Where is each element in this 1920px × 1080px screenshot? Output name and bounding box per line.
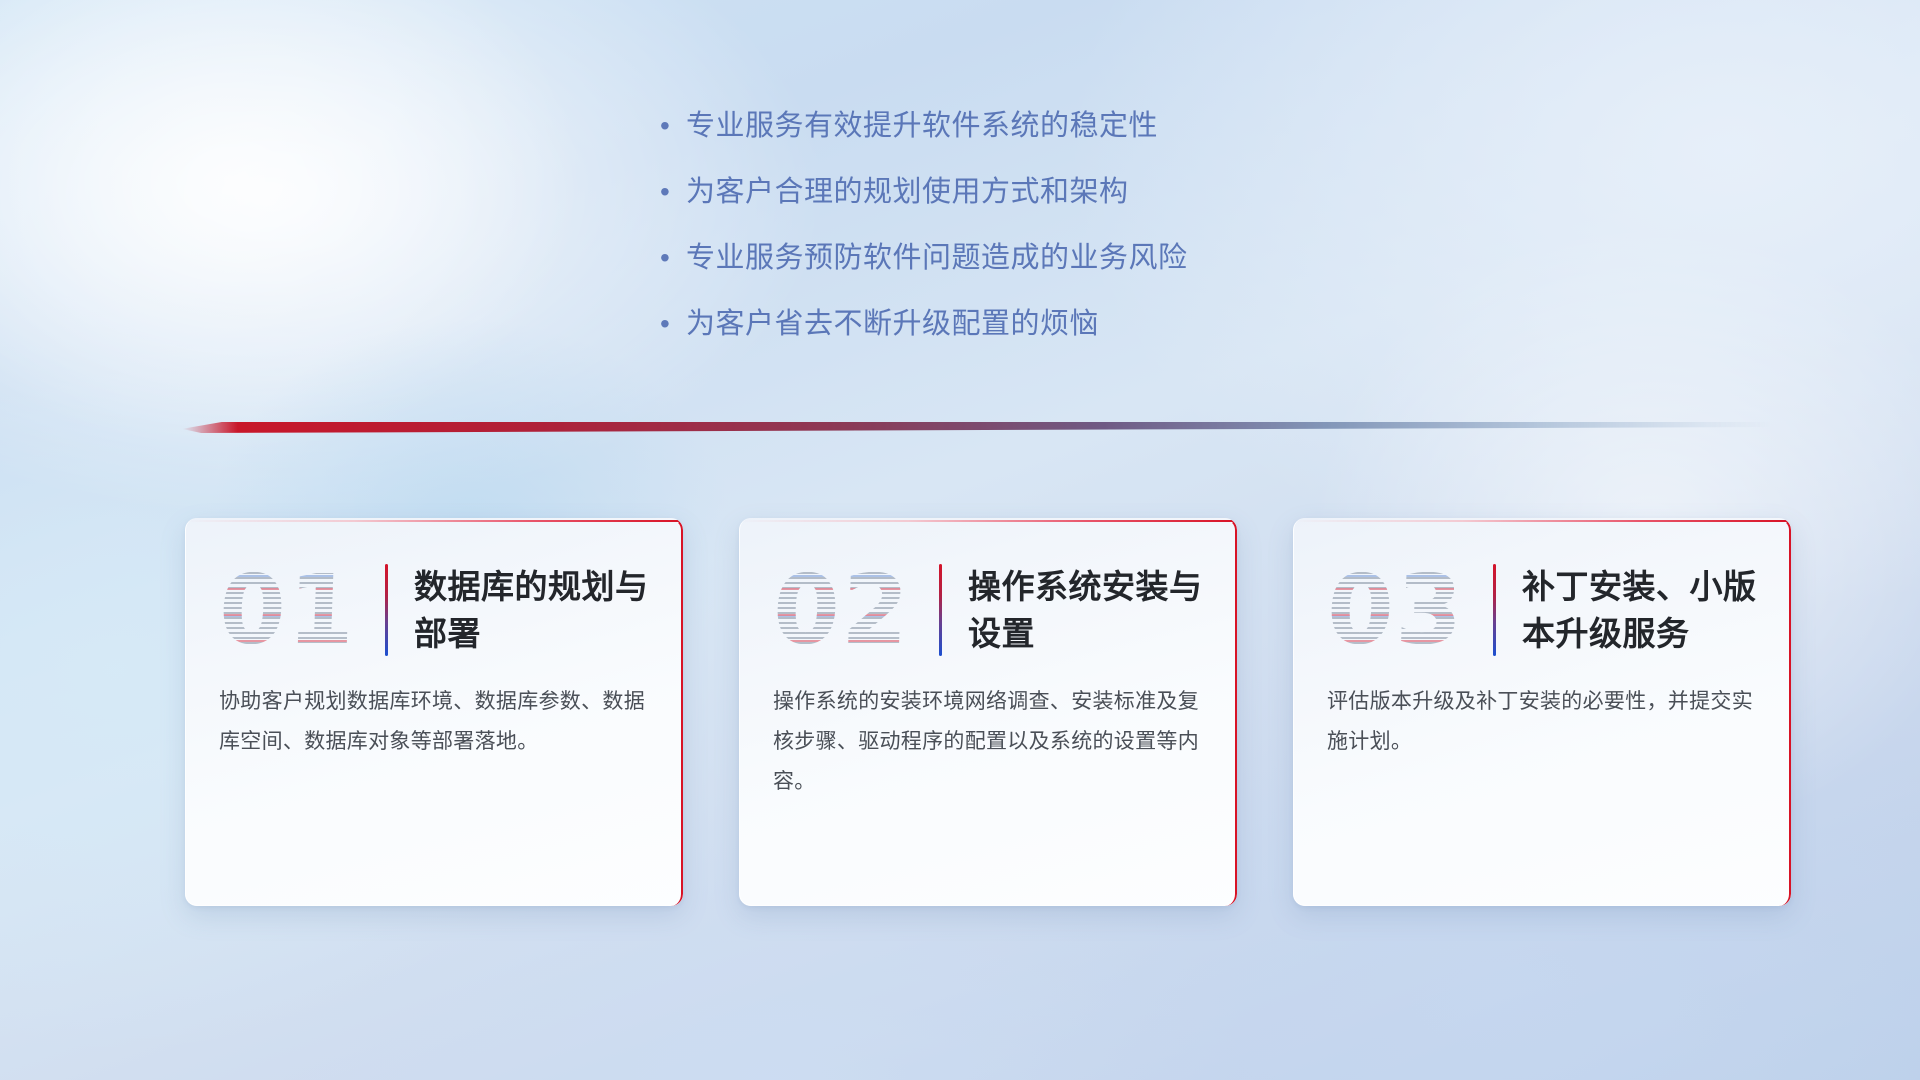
slide-canvas: • 专业服务有效提升软件系统的稳定性 • 为客户合理的规划使用方式和架构 • 专…: [0, 0, 1920, 1080]
service-card[interactable]: 0303 补丁安装、小版本升级服务 评估版本升级及补丁安装的必要性，并提交实施计…: [1293, 518, 1791, 906]
card-header: 0101 数据库的规划与部署: [185, 518, 683, 668]
bullet-text: 专业服务有效提升软件系统的稳定性: [686, 105, 1158, 147]
card-number-tint: 01: [217, 562, 358, 658]
card-header: 0303 补丁安装、小版本升级服务: [1293, 518, 1791, 668]
card-description: 协助客户规划数据库环境、数据库参数、数据库空间、数据库对象等部署落地。: [185, 668, 683, 762]
section-accent-divider: [182, 422, 1770, 433]
bullet-dot-icon: •: [660, 303, 686, 345]
card-divider-bar: [1493, 564, 1496, 656]
card-description: 评估版本升级及补丁安装的必要性，并提交实施计划。: [1293, 668, 1791, 762]
card-description: 操作系统的安装环境网络调查、安装标准及复核步骤、驱动程序的配置以及系统的设置等内…: [739, 668, 1237, 802]
bullet-text: 为客户省去不断升级配置的烦恼: [686, 303, 1099, 345]
card-number: 0202: [771, 562, 934, 658]
list-item: • 专业服务有效提升软件系统的稳定性: [660, 105, 1560, 147]
card-title: 数据库的规划与部署: [414, 563, 653, 657]
card-header: 0202 操作系统安装与设置: [739, 518, 1237, 668]
card-title: 操作系统安装与设置: [968, 563, 1207, 657]
card-divider-bar: [939, 564, 942, 656]
service-card[interactable]: 0101 数据库的规划与部署 协助客户规划数据库环境、数据库参数、数据库空间、数…: [185, 518, 683, 906]
bullet-text: 专业服务预防软件问题造成的业务风险: [686, 237, 1188, 279]
background-glow-top-left: [0, 0, 720, 560]
bullet-list: • 专业服务有效提升软件系统的稳定性 • 为客户合理的规划使用方式和架构 • 专…: [660, 105, 1560, 369]
bullet-text: 为客户合理的规划使用方式和架构: [686, 171, 1129, 213]
card-number: 0101: [217, 562, 380, 658]
card-number-tint: 03: [1325, 562, 1466, 658]
bullet-dot-icon: •: [660, 171, 686, 213]
bullet-dot-icon: •: [660, 105, 686, 147]
card-divider-bar: [385, 564, 388, 656]
list-item: • 专业服务预防软件问题造成的业务风险: [660, 237, 1560, 279]
card-title: 补丁安装、小版本升级服务: [1522, 563, 1761, 657]
card-number: 0303: [1325, 562, 1488, 658]
service-card[interactable]: 0202 操作系统安装与设置 操作系统的安装环境网络调查、安装标准及复核步骤、驱…: [739, 518, 1237, 906]
list-item: • 为客户合理的规划使用方式和架构: [660, 171, 1560, 213]
bullet-dot-icon: •: [660, 237, 686, 279]
card-group: 0101 数据库的规划与部署 协助客户规划数据库环境、数据库参数、数据库空间、数…: [185, 518, 1791, 906]
card-number-tint: 02: [771, 562, 912, 658]
list-item: • 为客户省去不断升级配置的烦恼: [660, 303, 1560, 345]
